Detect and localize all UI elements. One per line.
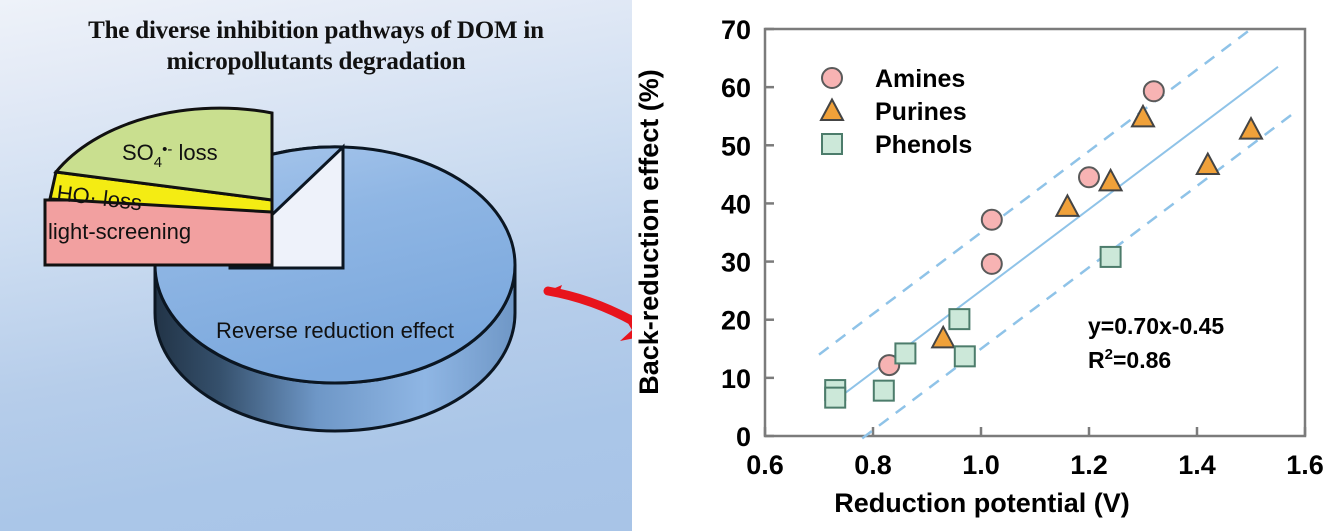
legend-marker-phenols bbox=[822, 134, 842, 154]
x-tick-label: 1.4 bbox=[1178, 450, 1216, 480]
y-tick-label: 60 bbox=[721, 73, 751, 103]
legend-marker-amines bbox=[822, 68, 842, 88]
red-curved-arrow bbox=[548, 285, 632, 341]
exploded-pie-chart: Reverse reduction effect light-screening… bbox=[0, 0, 632, 531]
x-tick-label: 1.2 bbox=[1070, 450, 1108, 480]
scatter-chart-panel: 010203040506070 0.60.81.01.21.41.6 Reduc… bbox=[632, 0, 1333, 531]
data-point-phenols bbox=[895, 343, 915, 363]
plot-frame bbox=[765, 29, 1305, 436]
diagram-panel: The diverse inhibition pathways of DOM i… bbox=[0, 0, 632, 531]
x-tick-label: 1.6 bbox=[1286, 450, 1324, 480]
data-point-phenols bbox=[955, 346, 975, 366]
fit-equation: y=0.70x-0.45 bbox=[1088, 313, 1224, 339]
y-tick-label: 30 bbox=[721, 248, 751, 278]
x-axis-title: Reduction potential (V) bbox=[834, 488, 1129, 518]
y-tick-label: 40 bbox=[721, 189, 751, 219]
wedge-label-light-screening: light-screening bbox=[48, 219, 191, 244]
y-tick-label: 50 bbox=[721, 131, 751, 161]
chart-svg: 010203040506070 0.60.81.01.21.41.6 Reduc… bbox=[632, 0, 1333, 531]
data-point-amines bbox=[982, 210, 1002, 230]
y-tick-label: 20 bbox=[721, 306, 751, 336]
legend-label-purines: Purines bbox=[875, 98, 967, 126]
data-point-amines bbox=[982, 254, 1002, 274]
r-squared-value: R2=0.86 bbox=[1088, 346, 1171, 373]
x-tick-label: 1.0 bbox=[962, 450, 1000, 480]
data-point-phenols bbox=[949, 309, 969, 329]
y-tick-label: 0 bbox=[736, 422, 751, 452]
data-point-amines bbox=[1144, 81, 1164, 101]
legend-label-phenols: Phenols bbox=[875, 131, 972, 159]
x-tick-label: 0.6 bbox=[746, 450, 784, 480]
y-tick-label: 10 bbox=[721, 364, 751, 394]
y-axis-title: Back-reduction effect (%) bbox=[634, 69, 664, 395]
data-point-phenols bbox=[874, 381, 894, 401]
data-point-phenols bbox=[825, 388, 845, 408]
wedge-label-reverse-reduction-effect: Reverse reduction effect bbox=[216, 318, 454, 343]
data-point-amines bbox=[1079, 167, 1099, 187]
y-tick-label: 70 bbox=[721, 15, 751, 45]
legend-label-amines: Amines bbox=[875, 65, 965, 93]
data-point-phenols bbox=[1101, 247, 1121, 267]
x-tick-label: 0.8 bbox=[854, 450, 892, 480]
